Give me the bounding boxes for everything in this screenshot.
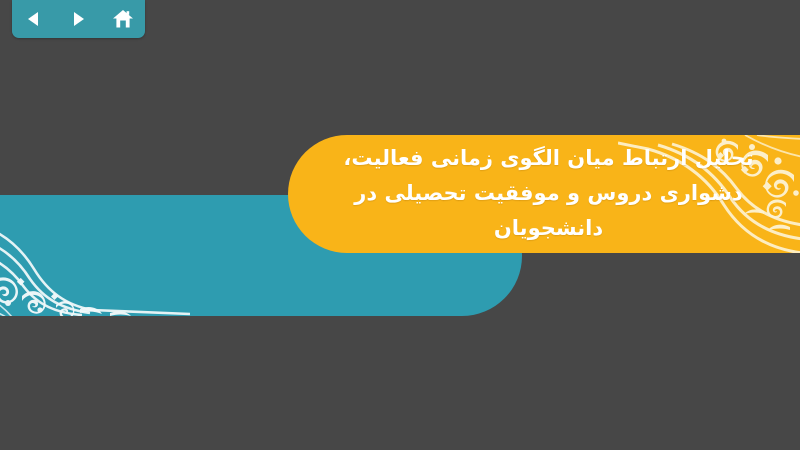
title-line-1: تحلیل ارتباط میان الگوی زمانی فعالیت، (343, 146, 753, 170)
arabesque-ornament-icon (0, 195, 190, 316)
slide-title: تحلیل ارتباط میان الگوی زمانی فعالیت،دشو… (328, 141, 769, 246)
slide-canvas: تحلیل ارتباط میان الگوی زمانی فعالیت،دشو… (0, 0, 800, 450)
title-plate: تحلیل ارتباط میان الگوی زمانی فعالیت،دشو… (288, 135, 800, 253)
home-icon (112, 9, 134, 29)
navigation-bar (12, 0, 145, 38)
triangle-left-icon (25, 10, 43, 28)
title-line-3: دانشجویان (494, 216, 603, 240)
home-button[interactable] (108, 4, 138, 34)
back-button[interactable] (19, 4, 49, 34)
forward-button[interactable] (63, 4, 93, 34)
title-line-2: دشواری دروس و موفقیت تحصیلی در (354, 181, 742, 205)
triangle-right-icon (69, 10, 87, 28)
